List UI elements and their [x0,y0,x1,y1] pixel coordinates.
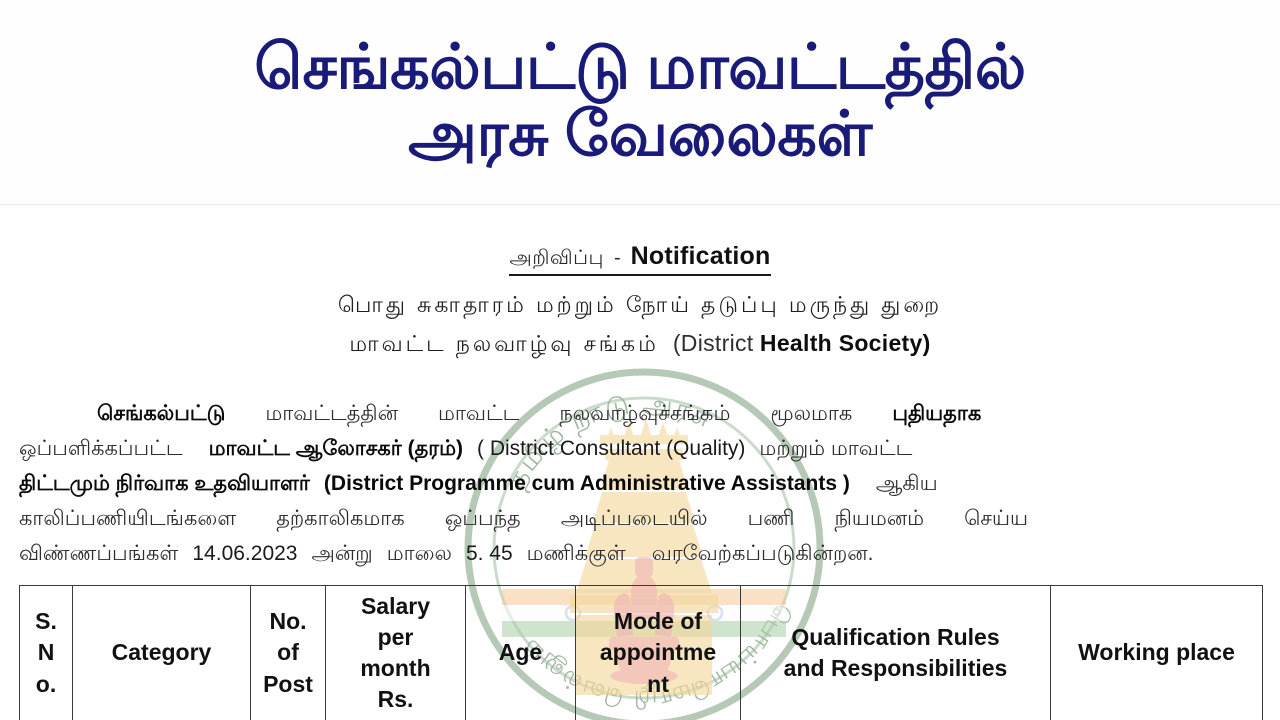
para1-seg-c: மாவட்ட [438,402,519,425]
para1-seg-e: மூலமாக [770,402,852,425]
notification-document: தமிழ் நாடு அரசு பொய்யாமொழி வெல்லும் [0,206,1280,720]
nop-part-2: of [254,637,322,668]
mode-part-2: appointme [579,637,737,668]
page-title-line-1: செங்கல்பட்டு மாவட்டத்தில் [254,35,1026,102]
mode-part-3: nt [579,669,737,700]
page-title-banner: செங்கல்பட்டு மாவட்டத்தில் அரசு வேலைகள் [0,0,1280,205]
para3-seg-c: ஆகிய [876,472,938,495]
screenshot-root: செங்கல்பட்டு மாவட்டத்தில் அரசு வேலைகள் த… [0,0,1280,720]
para5-seg-c: அன்று [311,542,372,565]
para5-seg-d: மாலை [387,542,452,565]
para4-seg-b: தற்காலிகமாக [276,507,405,530]
column-header-qualification: Qualification Rules and Responsibilities [741,586,1051,720]
paragraph-line-5: விண்ணப்பங்கள்14.06.2023அன்றுமாலை5. 45மணி… [19,536,1262,571]
salary-part-4: Rs. [329,684,462,715]
para1-seg-d: நலவாழ்வுச்சங்கம் [559,402,730,425]
page-title-line-2: அரசு வேலைகள் [408,102,872,169]
para4-seg-c: ஒப்பந்த [445,507,521,530]
vacancy-table-head: S. N o. Category No. of Post Salary pe [20,586,1263,720]
vacancy-table: S. N o. Category No. of Post Salary pe [19,585,1263,720]
para5-seg-a: விண்ணப்பங்கள் [19,542,178,565]
notification-heading-block: அறிவிப்பு-Notification பொது சுகாதாரம் மற… [0,242,1280,363]
notification-heading: அறிவிப்பு-Notification [509,242,770,276]
para5-deadline-time: 5. 45 [466,542,513,565]
para4-seg-a: காலிப்பணியிடங்களை [19,507,236,530]
paragraph-line-1: செங்கல்பட்டுமாவட்டத்தின்மாவட்டநலவாழ்வுச்… [19,396,1262,431]
column-header-sno: S. N o. [20,586,73,720]
department-line-1-text: பொது சுகாதாரம் மற்றும் நோய் தடுப்பு மருந… [338,292,942,317]
notification-label-tamil: அறிவிப்பு [509,247,603,269]
para2-seg-d: மற்றும் மாவட்ட [759,437,912,460]
table-header-row: S. N o. Category No. of Post Salary pe [20,586,1263,720]
column-header-no-of-post: No. of Post [251,586,326,720]
salary-part-3: month [329,653,462,684]
para4-seg-f: நியமனம் [835,507,925,530]
salary-part-1: Salary [329,591,462,622]
column-header-category: Category [73,586,251,720]
department-line-2-english-bold: Health Society) [760,330,931,356]
para4-seg-d: அடிப்படையில் [561,507,708,530]
department-line-2: மாவட்ட நலவாழ்வு சங்கம்(District Health S… [0,324,1280,364]
paragraph-line-2: ஒப்பளிக்கப்பட்டமாவட்ட ஆலோசகர் (தரம்)( Di… [19,431,1262,466]
para5-seg-g: வரவேற்கப்படுகின்றன. [652,542,874,565]
para2-seg-c: ( District Consultant (Quality) [477,437,745,460]
paragraph-line-4: காலிப்பணியிடங்களைதற்காலிகமாகஒப்பந்தஅடிப்… [19,501,1262,536]
para5-seg-f: மணிக்குள் [527,542,626,565]
column-header-age: Age [466,586,576,720]
mode-part-1: Mode of [579,606,737,637]
sno-part-1: S. [23,606,69,637]
para1-seg-f: புதியதாக [892,402,981,425]
nop-part-1: No. [254,606,322,637]
column-header-salary: Salary per month Rs. [326,586,466,720]
qual-part-2: and Responsibilities [744,653,1047,684]
sno-part-2: N [23,637,69,668]
vacancy-table-wrapper: S. N o. Category No. of Post Salary pe [19,585,1262,720]
qual-part-1: Qualification Rules [744,622,1047,653]
nop-part-3: Post [254,669,322,700]
sno-part-3: o. [23,669,69,700]
para3-seg-b: (District Programme cum Administrative A… [324,472,850,495]
notification-label-english: Notification [631,242,771,270]
column-header-working-place: Working place [1051,586,1263,720]
notification-separator: - [604,247,631,269]
para2-seg-a: ஒப்பளிக்கப்பட்ட [19,437,183,460]
notification-paragraph: செங்கல்பட்டுமாவட்டத்தின்மாவட்டநலவாழ்வுச்… [19,396,1262,571]
salary-part-2: per [329,622,462,653]
paragraph-line-3: திட்டமும் நிர்வாக உதவியாளர்(District Pro… [19,466,1262,501]
department-line-2-tamil: மாவட்ட நலவாழ்வு சங்கம் [349,331,658,356]
department-line-2-english-prefix: (District [673,330,754,356]
para3-seg-a: திட்டமும் நிர்வாக உதவியாளர் [19,472,310,495]
para1-seg-b: மாவட்டத்தின் [265,402,398,425]
department-line-1: பொது சுகாதாரம் மற்றும் நோய் தடுப்பு மருந… [0,286,1280,324]
para5-deadline-date: 14.06.2023 [192,542,297,565]
column-header-mode-of-appointment: Mode of appointme nt [576,586,741,720]
para4-seg-e: பணி [748,507,795,530]
para2-seg-b: மாவட்ட ஆலோசகர் (தரம்) [209,437,463,460]
para4-seg-g: செய்ய [964,507,1028,530]
para1-seg-a: செங்கல்பட்டு [97,402,225,425]
